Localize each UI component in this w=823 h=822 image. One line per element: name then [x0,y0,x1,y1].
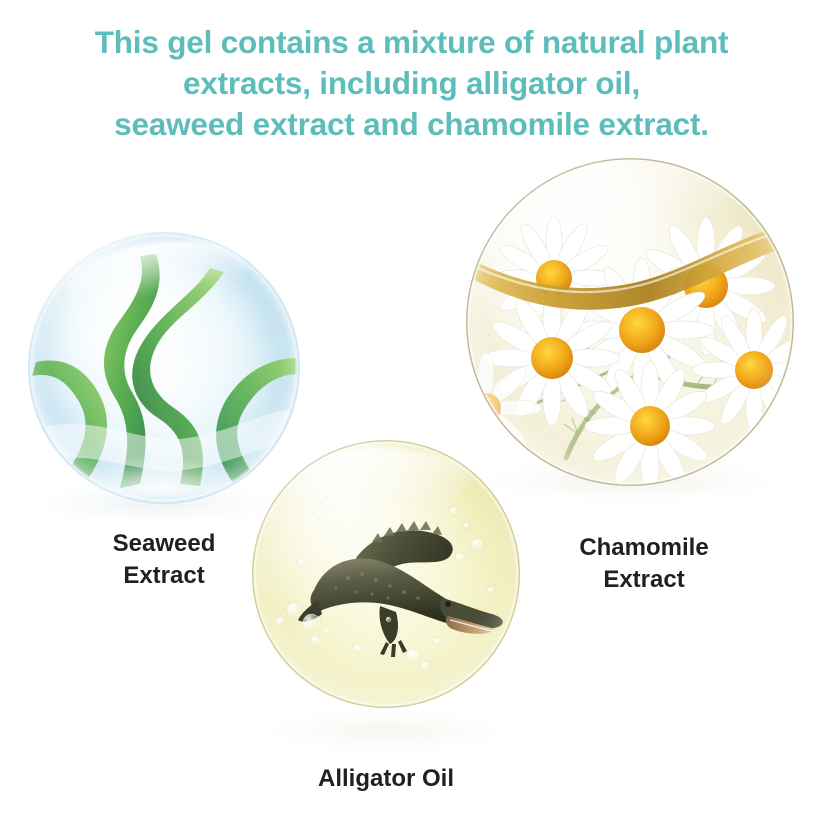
headline-line-1: This gel contains a mixture of natural p… [0,22,823,63]
alligator-orb [252,440,520,708]
label-alligator-oil: Alligator Oil [246,763,526,795]
alligator-orb-edge [252,440,520,708]
alligator-orb-group [248,436,524,744]
headline-line-3: seaweed extract and chamomile extract. [0,104,823,145]
page-title: This gel contains a mixture of natural p… [0,22,823,145]
infographic-canvas: This gel contains a mixture of natural p… [0,0,823,822]
headline-line-2: extracts, including alligator oil, [0,63,823,104]
label-chamomile-extract: Chamomile Extract [494,532,794,596]
